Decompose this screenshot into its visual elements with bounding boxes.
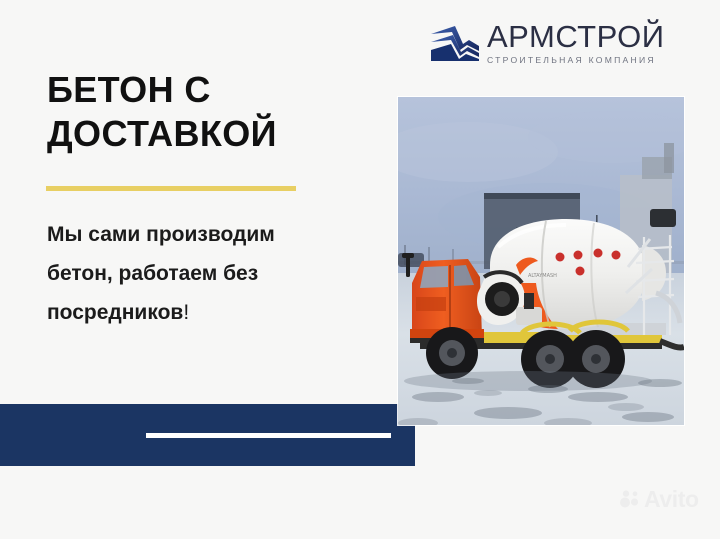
navy-band-white-rule — [146, 433, 391, 438]
building-blocks-icon — [429, 22, 481, 62]
headline-line-1: БЕТОН С — [47, 68, 377, 112]
subheadline-line-1: Мы сами производим — [47, 215, 347, 254]
logo-text: АРМСТРОЙ СТРОИТЕЛЬНАЯ КОМПАНИЯ — [487, 20, 683, 66]
subheadline-line-2: бетон, работаем без — [47, 254, 347, 293]
svg-text:ALTAYMASH: ALTAYMASH — [528, 273, 557, 279]
headline: БЕТОН С ДОСТАВКОЙ — [47, 68, 377, 156]
subheadline-exclamation: ! — [183, 301, 189, 324]
subheadline: Мы сами производим бетон, работаем без п… — [47, 215, 347, 332]
logo-company-name: АРМСТРОЙ — [487, 20, 683, 54]
avito-wordmark: Avito — [644, 488, 699, 511]
yellow-divider — [46, 186, 296, 191]
subheadline-line-3-text: посредников — [47, 301, 183, 324]
headline-line-2: ДОСТАВКОЙ — [47, 112, 377, 156]
avito-dots-icon — [620, 489, 640, 509]
advertisement-banner: АРМСТРОЙ СТРОИТЕЛЬНАЯ КОМПАНИЯ БЕТОН С Д… — [0, 0, 720, 539]
subheadline-line-3: посредников! — [47, 293, 347, 332]
avito-watermark: Avito — [620, 486, 708, 512]
logo-tagline: СТРОИТЕЛЬНАЯ КОМПАНИЯ — [487, 55, 683, 66]
company-logo: АРМСТРОЙ СТРОИТЕЛЬНАЯ КОМПАНИЯ — [429, 20, 681, 68]
concrete-mixer-truck-photo: ALTAYMASH — [398, 97, 684, 425]
